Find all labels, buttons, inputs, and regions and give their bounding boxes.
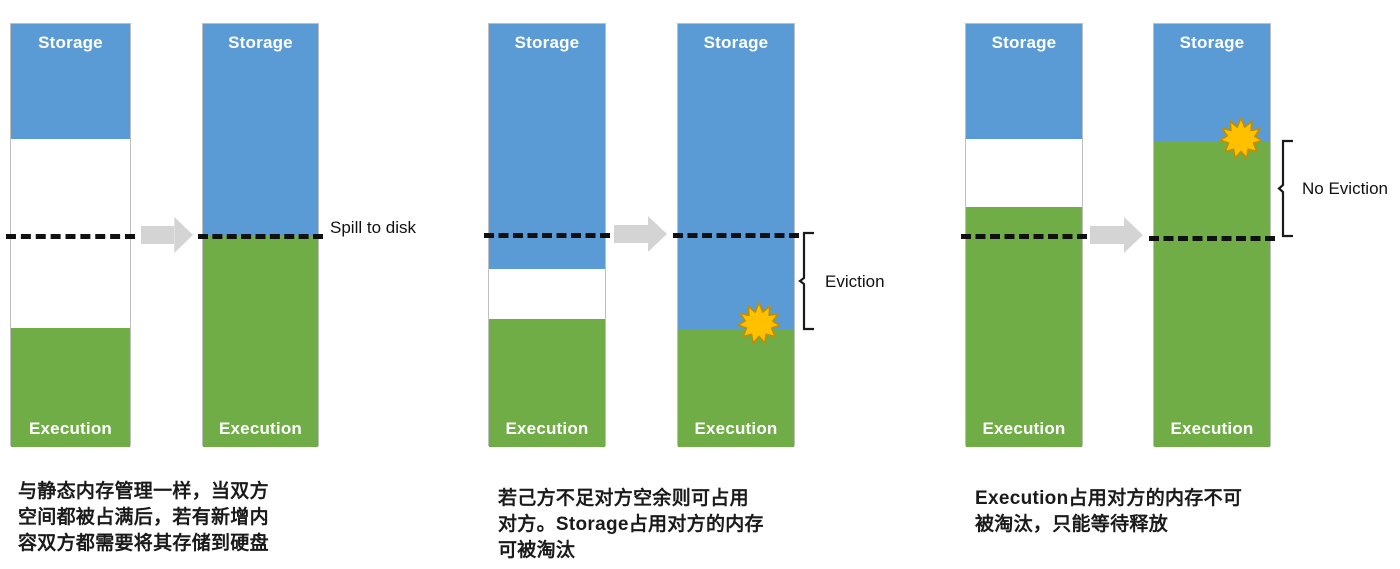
no-eviction-burst-icon (1220, 117, 1262, 159)
arrow-shaft (141, 226, 174, 244)
transition-arrow-2 (614, 216, 667, 252)
storage-label: Storage (489, 34, 605, 51)
execution-label: Execution (11, 420, 130, 437)
storage-label: Storage (203, 34, 318, 51)
storage-segment: Storage (11, 24, 130, 139)
storage-label: Storage (1154, 34, 1270, 51)
storage-segment: Storage (678, 24, 794, 329)
storage-label: Storage (678, 34, 794, 51)
memory-boundary-line (484, 233, 610, 238)
arrow-head (1124, 217, 1143, 253)
eviction-label: Eviction (825, 273, 885, 290)
memory-boundary-line (198, 234, 323, 239)
memory-boundary-line (6, 234, 135, 239)
caption-group-1: 与静态内存管理一样，当双方 空间都被占满后，若有新增内 容双方都需要将其存储到硬… (18, 479, 338, 558)
diagram-canvas: Storage Execution Storage Execution Spil… (0, 0, 1400, 569)
eviction-burst-icon (738, 302, 780, 344)
execution-label: Execution (966, 420, 1082, 437)
execution-segment: Execution (489, 319, 605, 447)
execution-segment: Execution (1154, 141, 1270, 447)
execution-segment: Execution (966, 207, 1082, 447)
no-eviction-brace (1279, 140, 1295, 237)
arrow-shaft (1090, 226, 1124, 244)
storage-segment: Storage (966, 24, 1082, 139)
execution-segment: Execution (11, 328, 130, 447)
bar-after-3: Storage Execution (1153, 23, 1271, 446)
spill-to-disk-note: Spill to disk (330, 219, 416, 236)
storage-segment: Storage (203, 24, 318, 235)
transition-arrow-3 (1090, 217, 1143, 253)
execution-label: Execution (1154, 420, 1270, 437)
memory-boundary-line (1149, 236, 1275, 241)
arrow-head (648, 216, 667, 252)
memory-boundary-line (961, 234, 1087, 239)
caption-group-2: 若己方不足对方空余则可占用 对方。Storage占用对方的内存 可被淘汰 (498, 486, 818, 565)
arrow-shaft (614, 225, 648, 243)
no-eviction-label: No Eviction (1302, 180, 1388, 197)
execution-segment: Execution (678, 329, 794, 447)
storage-label: Storage (966, 34, 1082, 51)
storage-label: Storage (11, 34, 130, 51)
execution-label: Execution (489, 420, 605, 437)
transition-arrow-1 (141, 217, 193, 253)
arrow-head (174, 217, 193, 253)
execution-segment: Execution (203, 235, 318, 447)
memory-boundary-line (673, 233, 799, 238)
execution-label: Execution (203, 420, 318, 437)
eviction-brace (800, 232, 816, 330)
caption-group-3: Execution占用对方的内存不可 被淘汰，只能等待释放 (975, 486, 1305, 538)
execution-label: Execution (678, 420, 794, 437)
